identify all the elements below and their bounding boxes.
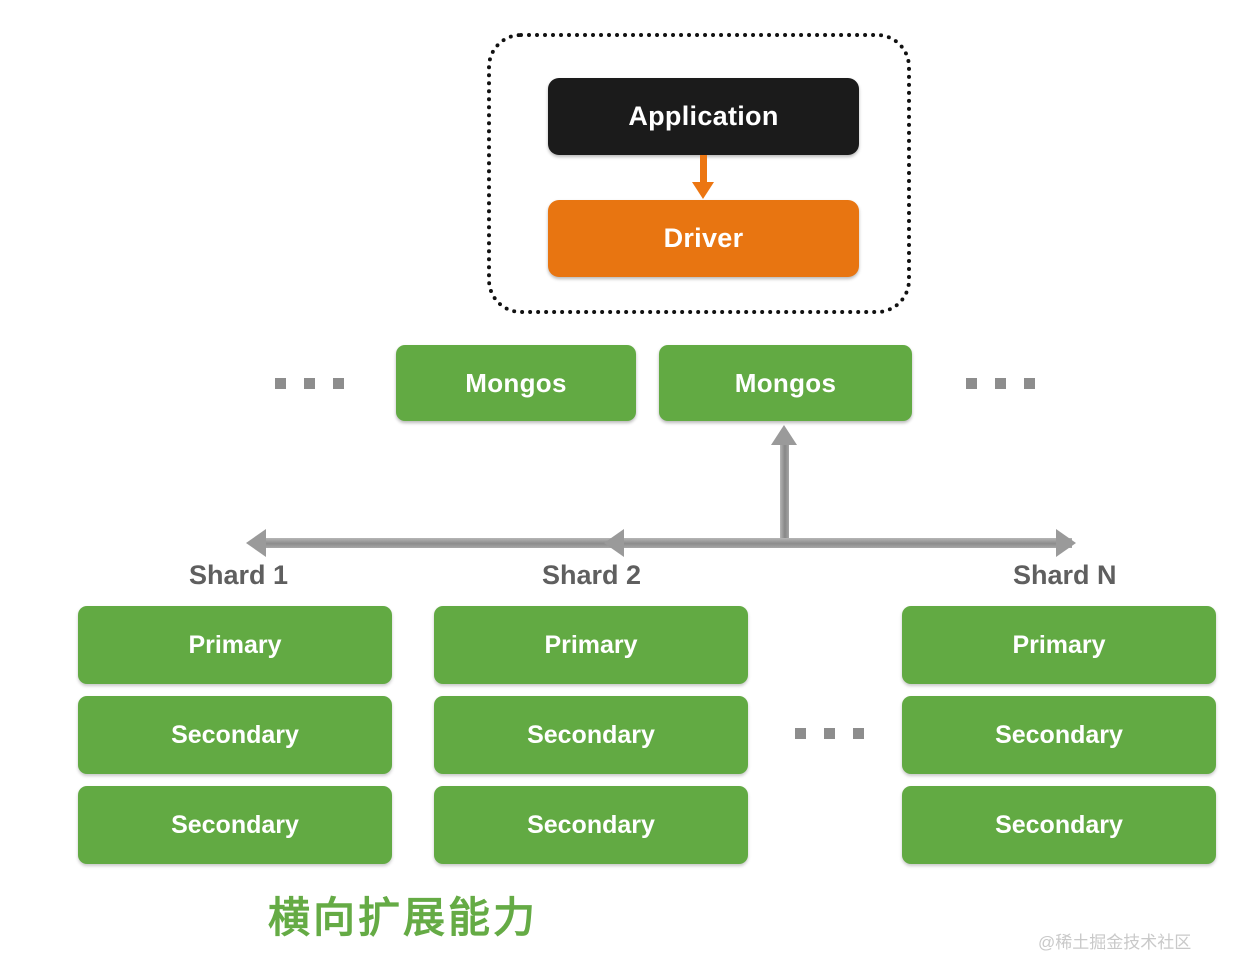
arrow-right-icon xyxy=(1056,529,1076,557)
shard-column-2: Primary Secondary Secondary xyxy=(434,606,748,864)
shard-distribution-axis xyxy=(262,538,1072,548)
shard-label-3: Shard N xyxy=(1013,560,1117,591)
mongos-node-1: Mongos xyxy=(396,345,636,421)
dot-icon xyxy=(304,378,315,389)
dot-icon xyxy=(1024,378,1035,389)
mongos-node-2: Mongos xyxy=(659,345,912,421)
arrow-down-icon xyxy=(692,182,714,199)
arrow-left-middle-icon xyxy=(604,529,624,557)
replica-member-primary: Primary xyxy=(434,606,748,684)
dot-icon xyxy=(995,378,1006,389)
replica-member-secondary: Secondary xyxy=(434,786,748,864)
dot-icon xyxy=(853,728,864,739)
shard-label-2: Shard 2 xyxy=(542,560,641,591)
replica-member-secondary: Secondary xyxy=(902,786,1216,864)
shard-label-1: Shard 1 xyxy=(189,560,288,591)
mongos-ellipsis-left xyxy=(275,378,344,389)
diagram-canvas: Application Driver Mongos Mongos Shard 1… xyxy=(0,0,1256,972)
replica-member-secondary: Secondary xyxy=(434,696,748,774)
diagram-caption: 横向扩展能力 xyxy=(268,884,538,945)
arrow-up-icon xyxy=(771,425,797,445)
mongos-to-axis-connector xyxy=(780,440,789,544)
shard-column-n: Primary Secondary Secondary xyxy=(902,606,1216,864)
shard-ellipsis xyxy=(795,728,864,739)
dot-icon xyxy=(795,728,806,739)
replica-member-primary: Primary xyxy=(78,606,392,684)
driver-node: Driver xyxy=(548,200,859,277)
mongos-ellipsis-right xyxy=(966,378,1035,389)
replica-member-primary: Primary xyxy=(902,606,1216,684)
shard-column-1: Primary Secondary Secondary xyxy=(78,606,392,864)
dot-icon xyxy=(966,378,977,389)
arrow-left-icon xyxy=(246,529,266,557)
replica-member-secondary: Secondary xyxy=(78,786,392,864)
application-node: Application xyxy=(548,78,859,155)
dot-icon xyxy=(333,378,344,389)
replica-member-secondary: Secondary xyxy=(78,696,392,774)
replica-member-secondary: Secondary xyxy=(902,696,1216,774)
watermark: @稀土掘金技术社区 xyxy=(1038,928,1191,953)
dot-icon xyxy=(824,728,835,739)
dot-icon xyxy=(275,378,286,389)
